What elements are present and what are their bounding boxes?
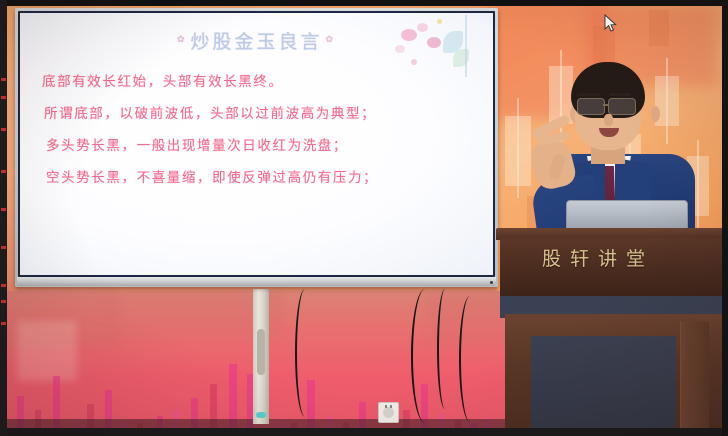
- podium-front-sign: 股轩讲堂: [500, 238, 728, 296]
- wall-outlet: [378, 402, 399, 423]
- outlet-slot: [390, 405, 392, 408]
- deco-petal: [395, 45, 405, 53]
- hanging-cable: [411, 289, 439, 423]
- deco-stem: [465, 15, 467, 77]
- title-ornament-left-icon: ✿: [177, 35, 188, 45]
- video-letterbox-bottom: [0, 428, 728, 436]
- edge-tick-mark: [1, 96, 6, 99]
- podium-body: [505, 314, 723, 428]
- edge-tick-mark: [1, 284, 6, 287]
- eyeglasses-lens-left: [577, 98, 605, 115]
- deco-petal: [401, 29, 417, 41]
- video-letterbox-right: [722, 0, 728, 436]
- candlestick-body: [649, 10, 669, 46]
- eyebrow-right: [609, 93, 631, 96]
- nose: [604, 114, 613, 126]
- ear-right: [651, 106, 660, 122]
- deco-petal: [417, 23, 428, 32]
- edge-tick-mark: [1, 246, 6, 249]
- edge-tick-mark: [1, 170, 6, 173]
- edge-tick-mark: [1, 78, 6, 81]
- eyebrow-left: [579, 93, 601, 96]
- outlet-slot: [385, 405, 387, 408]
- whiteboard-bezel: ✿炒股金玉良言✿ 底部有效长红始，头部有效长黑终。: [18, 11, 495, 277]
- wall-patch: [17, 321, 77, 381]
- eyeglasses-bridge: [603, 104, 608, 106]
- hanging-cable: [459, 296, 481, 422]
- podium-side-edge: [680, 322, 709, 428]
- deco-petal: [427, 37, 441, 48]
- stand-indicator-light: [256, 412, 266, 418]
- podium-center-panel: [531, 336, 676, 428]
- eyeglasses-lens-right: [608, 98, 636, 115]
- slide-title-text: 炒股金玉良言: [190, 31, 322, 53]
- title-ornament-right-icon: ✿: [326, 35, 337, 45]
- whiteboard-pen-tray: [17, 277, 496, 286]
- edge-tick-mark: [1, 322, 6, 325]
- hanging-cable: [295, 289, 315, 417]
- hanging-cable: [437, 289, 453, 409]
- interactive-whiteboard[interactable]: ✿炒股金玉良言✿ 底部有效长红始，头部有效长黑终。: [15, 8, 498, 287]
- slide-line: 底部有效长红始，头部有效长黑终。: [42, 70, 462, 90]
- deco-dot: [411, 59, 417, 65]
- whiteboard-stand: [253, 289, 269, 424]
- slide-body: 底部有效长红始，头部有效长黑终。 所谓底部，以破前波低，头部以过前波高为典型； …: [42, 70, 462, 198]
- screenshot-stage: ✿炒股金玉良言✿ 底部有效长红始，头部有效长黑终。: [0, 0, 728, 436]
- mouse-pointer-icon: [604, 14, 617, 33]
- edge-tick-mark: [1, 208, 6, 211]
- stand-slot: [257, 329, 265, 375]
- whiteboard-screen[interactable]: ✿炒股金玉良言✿ 底部有效长红始，头部有效长黑终。: [20, 13, 493, 275]
- venue-sign-text: 股轩讲堂: [500, 244, 696, 271]
- slide-line: 多头势长黑，一般出现增量次日收红为洗盘；: [46, 134, 462, 154]
- edge-tick-mark: [1, 300, 6, 303]
- video-letterbox-left: [0, 0, 7, 436]
- edge-tick-mark: [1, 128, 6, 131]
- slide-line: 空头势长黑，不喜量缩，即使反弹过高仍有压力；: [46, 166, 462, 186]
- slide-line: 所谓底部，以破前波低，头部以过前波高为典型；: [44, 102, 462, 122]
- outlet-socket: [383, 407, 394, 418]
- whiteboard-power-led: [490, 281, 493, 284]
- video-letterbox-top: [0, 0, 728, 6]
- deco-dot: [437, 19, 442, 24]
